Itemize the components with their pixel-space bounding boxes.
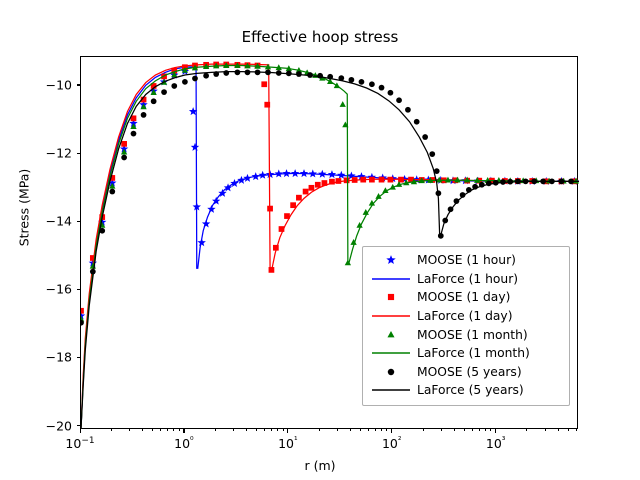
legend-item[interactable]: LaForce (1 month) [369, 344, 563, 363]
data-point [379, 85, 385, 91]
figure: Effective hoop stress Stress (MPa) r (m)… [0, 0, 640, 480]
legend-item[interactable]: MOOSE (5 years) [369, 363, 563, 382]
data-point [109, 189, 115, 195]
legend-item[interactable]: LaForce (1 hour) [369, 270, 563, 289]
legend: MOOSE (1 hour)LaForce (1 hour)MOOSE (1 d… [362, 246, 570, 406]
legend-item[interactable]: MOOSE (1 day) [369, 288, 563, 307]
data-point [388, 90, 394, 96]
y-tick-label: −14 [32, 214, 72, 229]
y-tick-label: −20 [32, 418, 72, 433]
data-point [121, 141, 127, 147]
data-point [269, 267, 275, 273]
data-point [429, 151, 435, 157]
data-point [81, 308, 84, 314]
legend-swatch-line [369, 309, 413, 323]
data-point [191, 143, 199, 151]
data-point [261, 81, 267, 87]
chart-title: Effective hoop stress [0, 28, 640, 46]
data-point [121, 155, 127, 161]
data-point [396, 97, 402, 103]
data-point [309, 185, 315, 191]
legend-label: LaForce (1 month) [413, 346, 530, 360]
legend-swatch-line [369, 272, 413, 286]
legend-item[interactable]: LaForce (5 years) [369, 381, 563, 400]
data-point [161, 89, 167, 95]
legend-swatch-line [369, 383, 413, 397]
data-point [290, 202, 296, 208]
data-point [223, 70, 229, 76]
data-point [405, 107, 411, 113]
legend-label: LaForce (1 day) [413, 309, 513, 323]
data-point [171, 83, 177, 89]
data-point [303, 189, 309, 195]
data-point [422, 134, 428, 140]
x-axis-label: r (m) [0, 458, 640, 473]
y-tick-label: −18 [32, 350, 72, 365]
data-point [349, 77, 355, 83]
legend-swatch-triangle-icon [369, 328, 413, 342]
data-point [359, 79, 365, 85]
legend-label: MOOSE (5 years) [413, 365, 522, 379]
y-tick-label: −10 [32, 77, 72, 92]
data-point [315, 182, 321, 188]
y-tick-label: −16 [32, 282, 72, 297]
data-point [340, 101, 346, 107]
y-tick-label: −12 [32, 146, 72, 161]
legend-swatch-star-icon [369, 253, 413, 267]
legend-label: MOOSE (1 day) [413, 290, 510, 304]
legend-item[interactable]: LaForce (1 day) [369, 307, 563, 326]
legend-label: LaForce (5 years) [413, 383, 524, 397]
x-tick-label: 10³ [486, 436, 506, 451]
data-point [414, 119, 420, 125]
legend-item[interactable]: MOOSE (1 hour) [369, 251, 563, 270]
data-point [296, 195, 302, 201]
data-point [151, 98, 157, 104]
data-point [369, 81, 375, 87]
legend-swatch-line [369, 346, 413, 360]
data-point [141, 112, 147, 118]
data-point [328, 170, 336, 178]
data-point [182, 79, 188, 85]
legend-swatch-circle-icon [369, 365, 413, 379]
legend-label: LaForce (1 hour) [413, 272, 518, 286]
x-tick-label: 10⁰ [174, 436, 194, 451]
legend-label: MOOSE (1 hour) [413, 253, 516, 267]
legend-swatch-square-icon [369, 290, 413, 304]
data-point [192, 76, 198, 82]
x-tick-label: 10¹ [278, 436, 298, 451]
y-axis-label: Stress (MPa) [17, 8, 32, 408]
data-point [203, 73, 209, 79]
legend-label: MOOSE (1 month) [413, 328, 528, 342]
data-point [235, 69, 241, 75]
x-tick-label: 10−1 [65, 436, 94, 451]
x-tick-label: 10² [382, 436, 402, 451]
legend-item[interactable]: MOOSE (1 month) [369, 325, 563, 344]
data-point [131, 131, 137, 137]
